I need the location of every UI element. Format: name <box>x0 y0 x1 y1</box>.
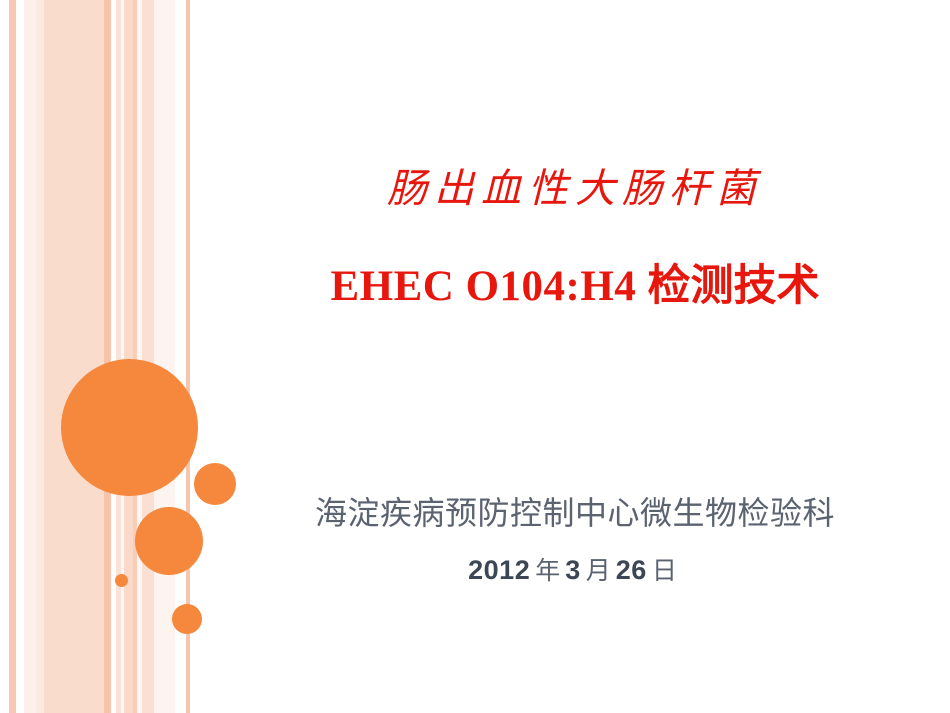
stripe-salmon-1 <box>9 0 16 713</box>
presentation-slide: 肠出血性大肠杆菌 EHEC O104:H4 检测技术 海淀疾病预防控制中心微生物… <box>0 0 950 713</box>
slide-title-secondary-han: 检测技术 <box>648 262 820 310</box>
date-month: 3 <box>565 555 581 585</box>
stripe-pink-5 <box>124 0 133 713</box>
slide-subtitle-organization: 海淀疾病预防控制中心微生物检验科 <box>200 488 950 534</box>
circle-large <box>61 359 198 496</box>
stripe-pale-1 <box>24 0 36 713</box>
decorative-stripe-band <box>0 0 200 713</box>
stripe-pink-6 <box>142 0 154 713</box>
stripe-pink-1 <box>36 0 44 713</box>
stripe-pink-2 <box>44 0 88 713</box>
slide-subtitle-date: 2012年3月26日 <box>200 551 950 587</box>
date-day: 26 <box>616 555 647 585</box>
slide-title-primary: 肠出血性大肠杆菌 <box>200 166 950 212</box>
slide-title-secondary: EHEC O104:H4 检测技术 <box>200 262 950 311</box>
date-year-label: 年 <box>530 558 565 585</box>
stripe-salmon-2 <box>104 0 111 713</box>
stripe-pale-2 <box>154 0 175 713</box>
slide-title-secondary-latin: EHEC O104:H4 <box>330 263 647 310</box>
stripe-pink-3 <box>88 0 104 713</box>
slide-content: 肠出血性大肠杆菌 EHEC O104:H4 检测技术 海淀疾病预防控制中心微生物… <box>200 0 950 713</box>
date-day-label: 日 <box>647 558 682 585</box>
circle-tiny <box>115 574 128 587</box>
circle-medium <box>135 507 203 575</box>
date-month-label: 月 <box>581 558 616 585</box>
date-year: 2012 <box>468 555 530 585</box>
circle-bottom <box>172 604 202 634</box>
